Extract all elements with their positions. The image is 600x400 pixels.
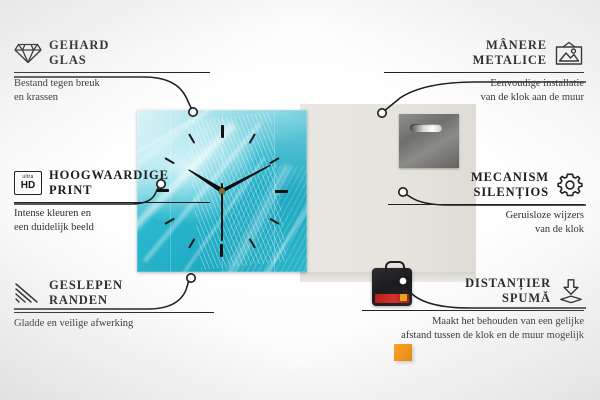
callout-edges: GESLEPEN RANDEN Gladde en veilige afwerk…	[14, 278, 214, 331]
callout-mechanism-description-line1: Geruisloze wijzers	[388, 209, 584, 223]
callout-mechanism-description-line2: van de klok	[388, 223, 584, 237]
callout-glass-header: GEHARD GLAS	[14, 38, 210, 68]
beveled-edge-icon	[14, 281, 42, 305]
callout-edges-title-line2: RANDEN	[49, 293, 123, 308]
callout-mechanism-rule	[388, 204, 584, 205]
callout-handles-description-line1: Eenvoudige installatie	[384, 77, 584, 91]
gear-icon	[556, 172, 584, 198]
callout-spacer-description-line2: afstand tussen de klok en de muur mogeli…	[362, 329, 584, 343]
callout-edges-header: GESLEPEN RANDEN	[14, 278, 214, 308]
callout-handles: MÂNERE METALICE Eenvoudige installatie v…	[384, 38, 584, 104]
ultra-hd-icon-hd-text: HD	[21, 181, 35, 191]
clock-center-cap	[219, 188, 225, 194]
callout-print-description-line2: een duidelijk beeld	[14, 221, 210, 235]
diamond-icon	[14, 41, 42, 65]
callout-handles-rule	[384, 72, 584, 73]
callout-handles-header: MÂNERE METALICE	[384, 38, 584, 68]
callout-edges-rule	[14, 312, 214, 313]
callout-spacer: DISTANȚIER SPUMĂ Maakt het behouden van …	[362, 276, 584, 342]
callout-handles-title-line1: MÂNERE	[473, 38, 547, 53]
callout-spacer-rule	[362, 310, 584, 311]
callout-handles-description-line2: van de klok aan de muur	[384, 91, 584, 105]
callout-mechanism-title-line1: MECANISM	[471, 170, 549, 185]
callout-print-rule	[14, 202, 210, 203]
ultra-hd-icon: ultra HD	[14, 171, 42, 195]
mechanism-hanging-loop	[385, 261, 405, 273]
callout-spacer-title-line1: DISTANȚIER	[465, 276, 551, 291]
callout-print-description-line1: Intense kleuren en	[14, 207, 210, 221]
callout-glass-rule	[14, 72, 210, 73]
callout-spacer-title-line2: SPUMĂ	[465, 291, 551, 306]
infographic-canvas: GEHARD GLAS Bestand tegen breuk en krass…	[0, 0, 600, 400]
metal-hanger-plate	[399, 114, 459, 168]
spacer-arrow-icon	[558, 278, 584, 304]
callout-print: ultra HD HOOGWAARDIGE PRINT Intense kleu…	[14, 168, 210, 234]
callout-mechanism: MECANISM SILENȚIOS Geruisloze wijzers va…	[388, 170, 584, 236]
callout-print-title-line2: PRINT	[49, 183, 169, 198]
callout-mechanism-header: MECANISM SILENȚIOS	[388, 170, 584, 200]
callout-spacer-header: DISTANȚIER SPUMĂ	[362, 276, 584, 306]
callout-glass-description-line2: en krassen	[14, 91, 210, 105]
callout-spacer-description-line1: Maakt het behouden van een gelijke	[362, 315, 584, 329]
callout-mechanism-title-line2: SILENȚIOS	[471, 185, 549, 200]
callout-print-header: ultra HD HOOGWAARDIGE PRINT	[14, 168, 210, 198]
callout-print-title-line1: HOOGWAARDIGE	[49, 168, 169, 183]
callout-glass-description-line1: Bestand tegen breuk	[14, 77, 210, 91]
callout-glass-title-line1: GEHARD	[49, 38, 109, 53]
picture-hanger-icon	[554, 41, 584, 66]
callout-glass-title-line2: GLAS	[49, 53, 109, 68]
foam-spacer	[394, 344, 412, 361]
hanger-slot	[410, 124, 442, 132]
callout-edges-title-line1: GESLEPEN	[49, 278, 123, 293]
callout-handles-title-line2: METALICE	[473, 53, 547, 68]
callout-edges-description-line1: Gladde en veilige afwerking	[14, 317, 214, 331]
callout-glass: GEHARD GLAS Bestand tegen breuk en krass…	[14, 38, 210, 104]
